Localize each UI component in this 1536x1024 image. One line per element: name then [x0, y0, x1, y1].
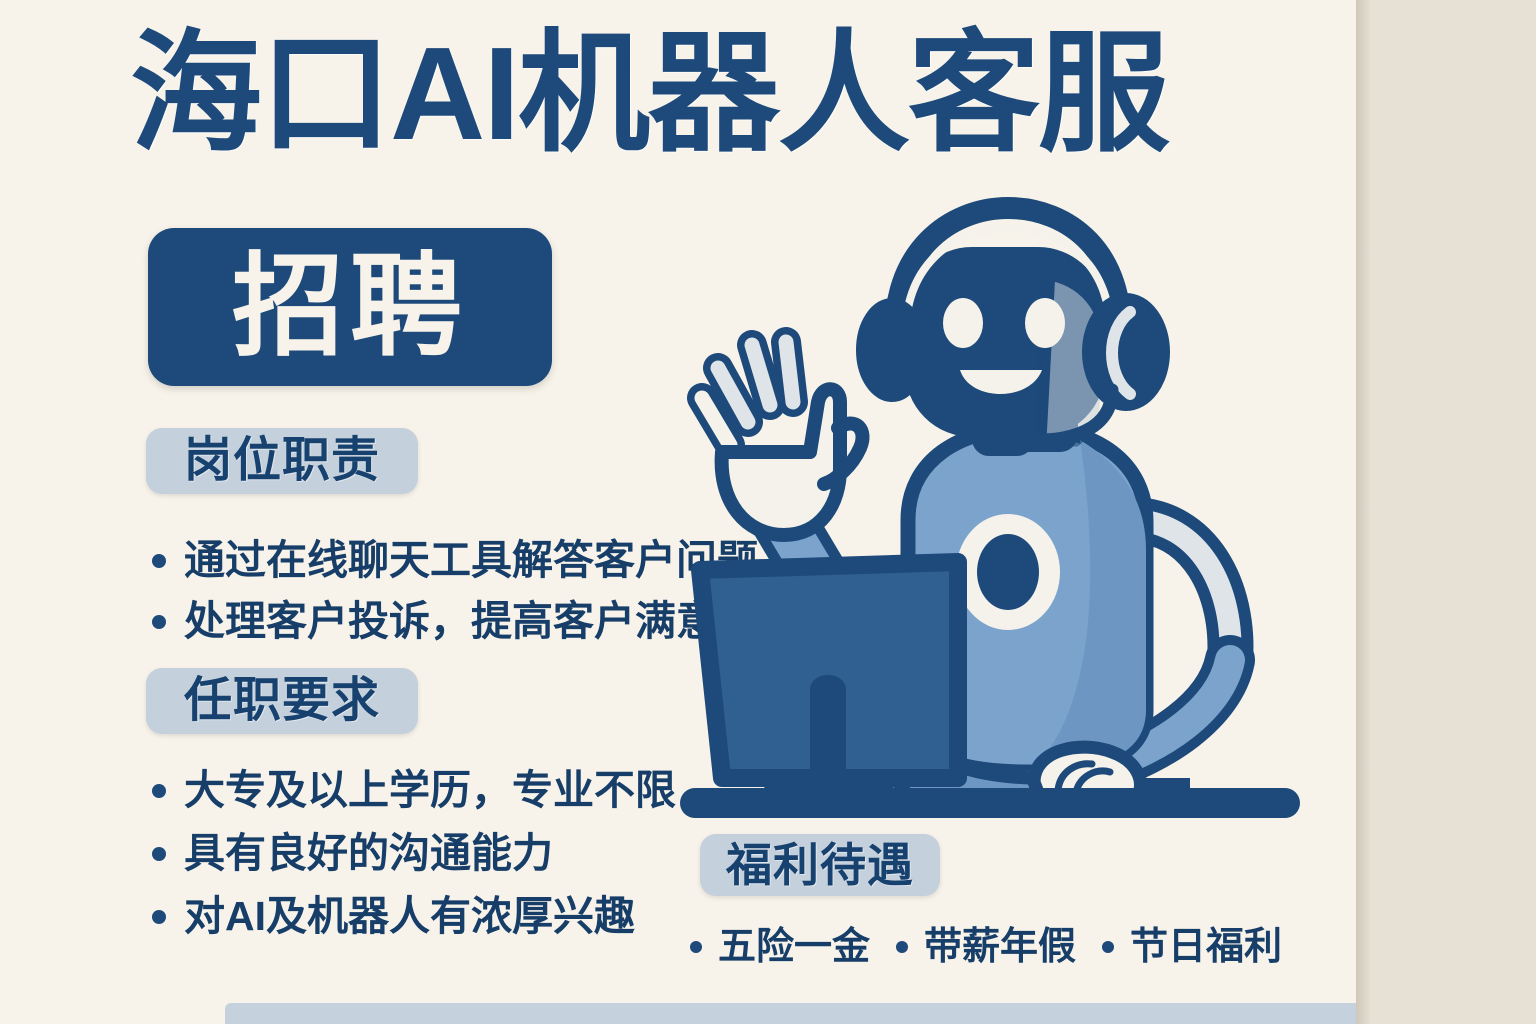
- bullet-dot-icon: [152, 910, 166, 924]
- list-item-label: 大专及以上学历，专业不限: [184, 770, 676, 811]
- list-item: 节日福利: [1102, 928, 1282, 966]
- bullet-dot-icon: [690, 941, 702, 953]
- list-item: 大专及以上学历，专业不限: [152, 770, 676, 811]
- bullet-dot-icon: [1102, 941, 1114, 953]
- list-item-label: 带薪年假: [924, 928, 1076, 966]
- list-item-label: 具有良好的沟通能力: [184, 833, 553, 874]
- requirements-list: 大专及以上学历，专业不限 具有良好的沟通能力 对AI及机器人有浓厚兴趣: [152, 770, 676, 959]
- page-gutter: [1356, 0, 1370, 1024]
- bullet-dot-icon: [152, 615, 166, 629]
- page-title: 海口AI机器人客服: [130, 28, 1345, 160]
- bullet-dot-icon: [152, 847, 166, 861]
- list-item: 具有良好的沟通能力: [152, 833, 676, 874]
- recruit-badge: 招聘: [148, 228, 552, 386]
- list-item-label: 对AI及机器人有浓厚兴趣: [184, 896, 635, 937]
- robot-illustration: [660, 190, 1340, 830]
- recruit-badge-label: 招聘: [232, 251, 468, 363]
- bullet-dot-icon: [152, 554, 166, 568]
- list-item: 带薪年假: [896, 928, 1076, 966]
- list-item: 五险一金: [690, 928, 870, 966]
- section-heading-requirements: 任职要求: [146, 668, 418, 734]
- bullet-dot-icon: [896, 941, 908, 953]
- benefits-list: 五险一金 带薪年假 节日福利: [690, 928, 1308, 966]
- section-heading-duties: 岗位职责: [146, 428, 418, 494]
- list-item-label: 节日福利: [1130, 928, 1282, 966]
- section-heading-benefits: 福利待遇: [700, 834, 940, 896]
- section-heading-duties-label: 岗位职责: [184, 437, 380, 485]
- list-item-label: 五险一金: [718, 928, 870, 966]
- section-heading-requirements-label: 任职要求: [184, 677, 380, 725]
- list-item: 对AI及机器人有浓厚兴趣: [152, 896, 676, 937]
- section-heading-benefits-label: 福利待遇: [726, 842, 914, 888]
- bottom-band: [225, 1003, 1356, 1024]
- recruitment-poster: 海口AI机器人客服 招聘 岗位职责 通过在线聊天工具解答客户问题 处理客户投诉，…: [0, 0, 1536, 1024]
- bullet-dot-icon: [152, 784, 166, 798]
- right-background-panel: [1370, 0, 1536, 1024]
